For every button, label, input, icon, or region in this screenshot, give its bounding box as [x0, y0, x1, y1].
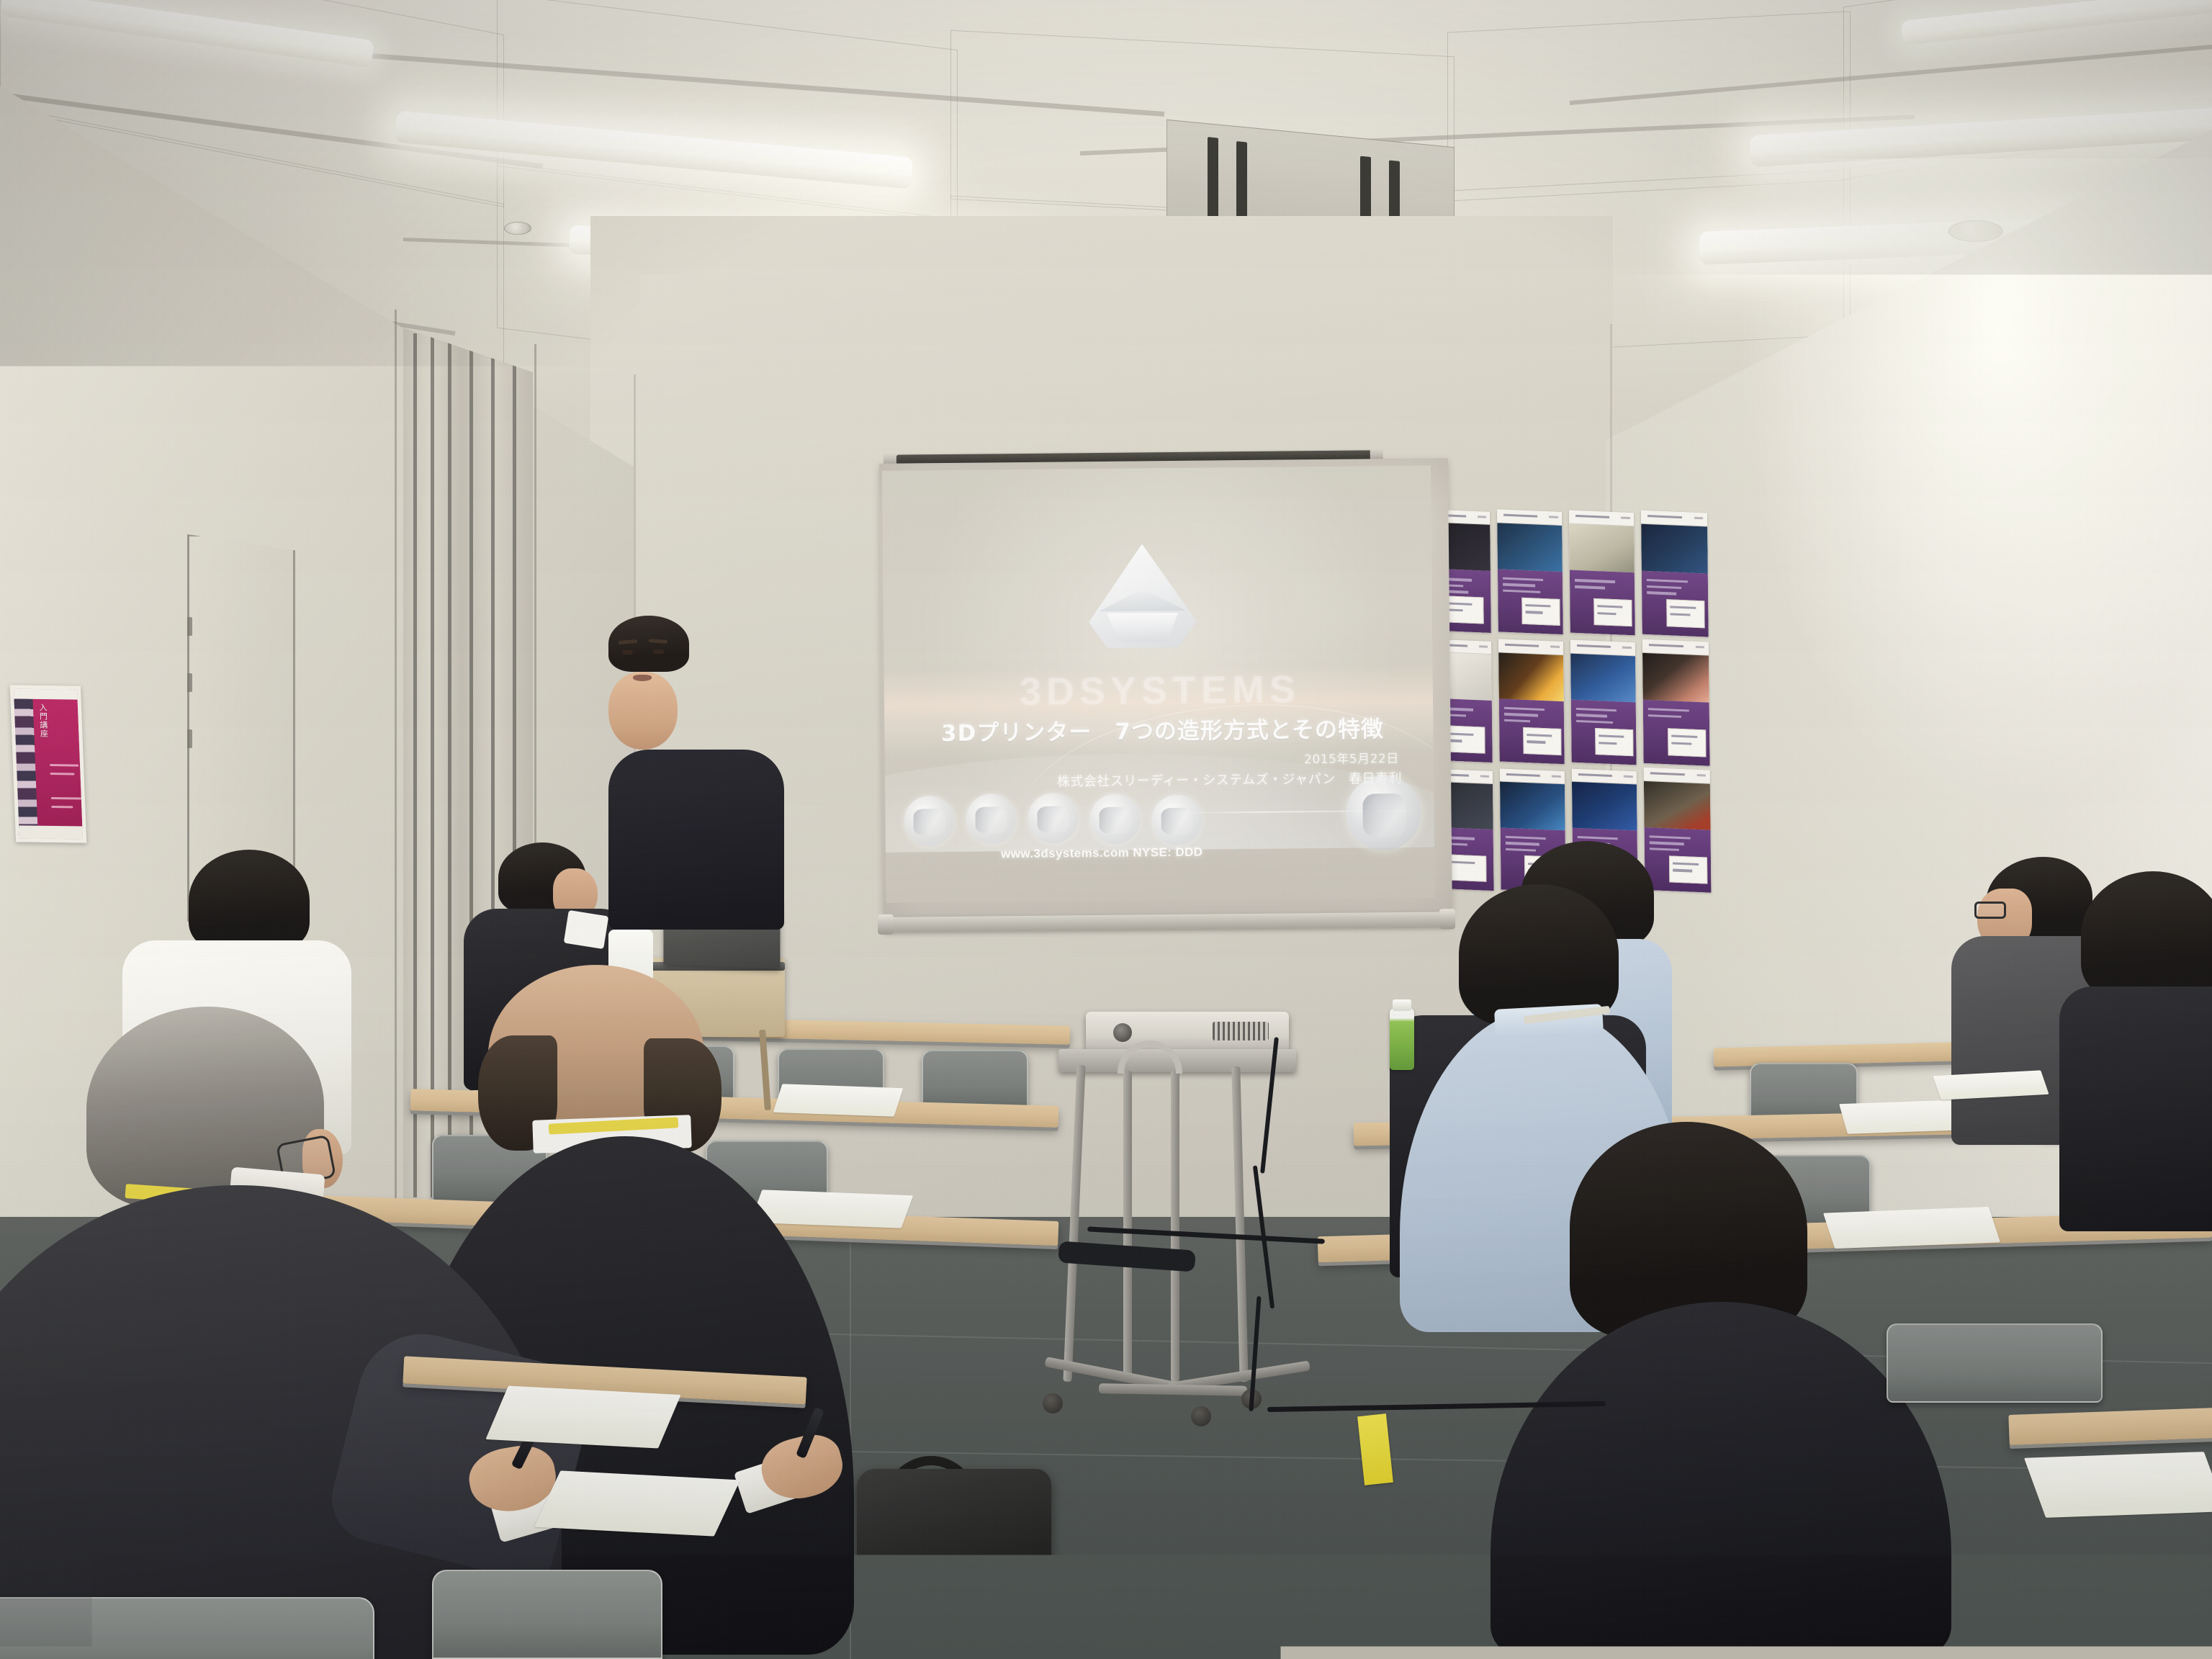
projector-lens-icon [1113, 1023, 1132, 1042]
cart-caster [1043, 1393, 1063, 1413]
slide-title: 3Dプリンター 7つの造形方式とその特徴 [917, 711, 1407, 748]
pyramid-logo-icon [1088, 544, 1197, 652]
chair-foreground-mid[interactable] [432, 1570, 662, 1659]
slide-thumbnail-3 [1028, 793, 1079, 844]
attendee-torso [1491, 1302, 1951, 1659]
attendee-far-right-2 [2067, 871, 2212, 1231]
poster-item [1642, 639, 1710, 766]
poster-item [1569, 510, 1635, 635]
screen-surface: 3DSYSTEMS 3Dプリンター 7つの造形方式とその特徴 2015年5月22… [879, 458, 1452, 917]
slide-thumbnail-4 [1089, 793, 1141, 845]
attendee-collar [564, 910, 609, 949]
attendee-front-left [0, 1007, 562, 1659]
slide-thumbnail-1 [904, 796, 955, 847]
presenter-suit [608, 750, 784, 930]
slide-presenter-line: 株式会社スリーディー・システムズ・ジャパン 春日寿利 [1057, 768, 1402, 791]
cart-leg [1231, 1066, 1248, 1382]
cart-leg [1123, 1071, 1132, 1382]
presenter [608, 616, 796, 947]
poster-item [1641, 511, 1709, 637]
attendee-bag [857, 1469, 1051, 1656]
chair-foreground-left[interactable] [0, 1597, 374, 1659]
photo-scene: 入門講座 [0, 0, 2212, 1659]
projection-screen: 3DSYSTEMS 3Dプリンター 7つの造形方式とその特徴 2015年5月22… [875, 449, 1471, 945]
slide-footer-url: www.3dsystems.com NYSE: DDD [1001, 845, 1203, 862]
handout-paper [2024, 1452, 2212, 1518]
slide-thumbnail-5 [1151, 795, 1202, 846]
projected-slide: 3DSYSTEMS 3Dプリンター 7つの造形方式とその特徴 2015年5月22… [882, 466, 1435, 903]
chair-foreground-right[interactable] [1887, 1323, 2103, 1403]
cart-leg [1063, 1065, 1085, 1382]
water-bottle[interactable] [1390, 1008, 1414, 1070]
glasses-icon [1974, 902, 2006, 919]
handout-paper [485, 1385, 680, 1448]
slide-date: 2015年5月22日 [1304, 748, 1399, 767]
wall-light-glow [1743, 158, 2212, 806]
cart-leg [1171, 1071, 1179, 1382]
slide-thumbnail-feature [1346, 775, 1421, 851]
bottle-cap-icon [1393, 999, 1411, 1011]
slide-brand-wordmark: 3DSYSTEMS [984, 667, 1337, 715]
attendee-hair [189, 850, 310, 952]
poster-item [1570, 640, 1637, 765]
attendee-torso [2059, 986, 2212, 1231]
poster-item [1498, 639, 1565, 764]
attendee-foreground-right [1491, 1122, 1951, 1659]
ceiling-speaker-icon [504, 222, 531, 235]
left-poster-title: 入門講座 [37, 703, 53, 811]
poster-item [1497, 509, 1563, 634]
left-wall-poster: 入門講座 [10, 685, 86, 842]
handout-paper [534, 1470, 740, 1536]
cart-caster [1191, 1406, 1211, 1426]
slide-thumbnail-2 [966, 793, 1017, 845]
projector-vent-icon [1213, 1022, 1269, 1040]
cart-foot-bar [1099, 1383, 1247, 1396]
presenter-face [608, 672, 678, 750]
attendee-hair [2081, 871, 2212, 1001]
screen-bar-cap-left [878, 914, 894, 935]
